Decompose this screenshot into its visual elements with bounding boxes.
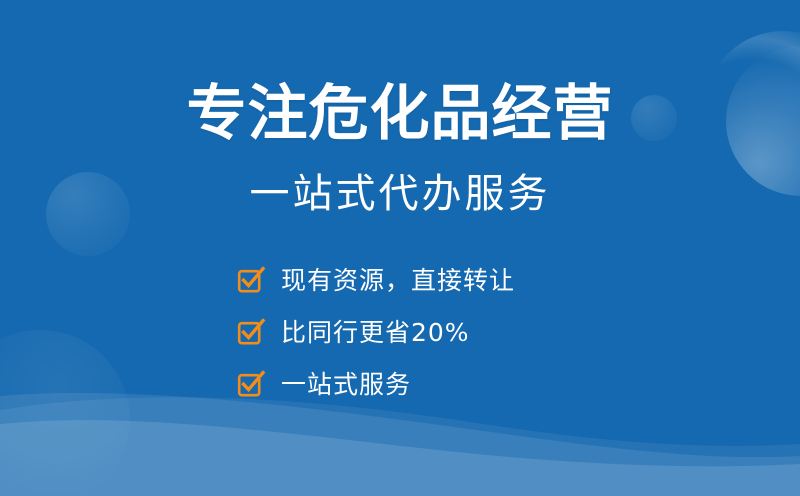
- page-subtitle: 一站式代办服务: [250, 174, 551, 214]
- checkbox-checked-icon: [237, 318, 265, 346]
- list-item: 现有资源，直接转让: [237, 254, 577, 306]
- page-title: 专注危化品经营: [187, 84, 614, 144]
- promo-banner: 专注危化品经营 一站式代办服务 现有资源，直接转让: [0, 0, 800, 496]
- list-item: 一站式服务: [237, 358, 577, 410]
- feature-label: 比同行更省20%: [281, 320, 470, 345]
- banner-content: 专注危化品经营 一站式代办服务 现有资源，直接转让: [0, 0, 800, 496]
- checkbox-checked-icon: [237, 266, 265, 294]
- list-item: 比同行更省20%: [237, 306, 577, 358]
- feature-label: 一站式服务: [281, 372, 411, 397]
- feature-list: 现有资源，直接转让 比同行更省20% 一站式: [237, 254, 577, 410]
- checkbox-checked-icon: [237, 370, 265, 398]
- feature-label: 现有资源，直接转让: [281, 268, 515, 293]
